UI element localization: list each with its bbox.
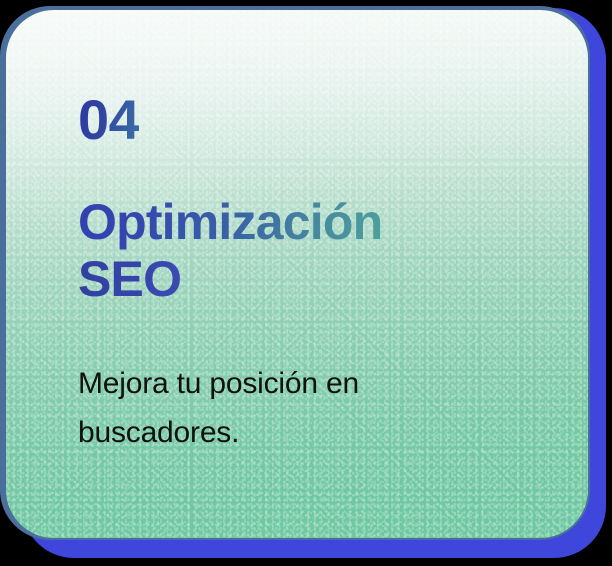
step-number: 04 [78,92,139,148]
card-title-line-1: Optimización [78,194,382,251]
card-content: 04 Optimización SEO Mejora tu posición e… [78,92,544,457]
card-stage: 04 Optimización SEO Mejora tu posición e… [0,0,612,566]
card-title: Optimización SEO [78,194,478,308]
card-description: Mejora tu posición en buscadores. [78,360,478,457]
card-title-line-2: SEO [78,251,181,308]
feature-card[interactable]: 04 Optimización SEO Mejora tu posición e… [6,10,588,538]
